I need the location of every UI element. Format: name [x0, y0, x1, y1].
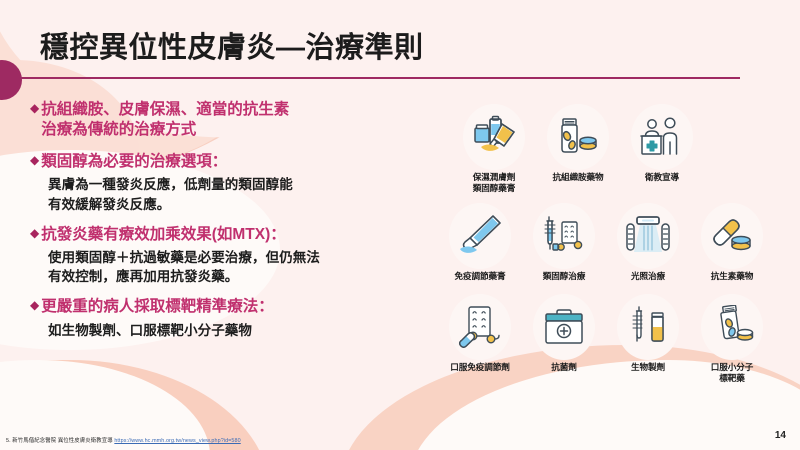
- steroid-syringe-blister-icon: [533, 203, 595, 269]
- antihistamine-pill-bottle-icon: [547, 104, 609, 170]
- antibiotic-capsule-icon: [701, 203, 763, 269]
- diamond-bullet-icon: ◆: [30, 100, 39, 117]
- phototherapy-booth-icon: [617, 203, 679, 269]
- icon-label: 口服小分子 標靶藥: [711, 362, 753, 383]
- icon-cell: 生物製劑: [606, 294, 690, 383]
- icon-row: 口服免疫調節劑 抗菌劑: [438, 294, 791, 383]
- bullet-heading-row: ◆ 更嚴重的病人採取標靶精準療法：: [30, 297, 430, 317]
- icon-cell: 口服小分子 標靶藥: [690, 294, 774, 383]
- icon-label: 衛教宣導: [645, 172, 679, 183]
- bullet-heading-row: ◆ 類固醇為必要的治療選項：: [30, 152, 430, 172]
- bullet-block: ◆ 更嚴重的病人採取標靶精準療法： 如生物製劑、口服標靶小分子藥物: [30, 297, 430, 340]
- diamond-bullet-icon: ◆: [30, 152, 39, 169]
- icon-cell: 光照治療: [606, 203, 690, 282]
- icon-cell: 抗組織胺藥物: [536, 104, 620, 193]
- icon-label: 抗組織胺藥物: [553, 172, 604, 183]
- page-title: 穩控異位性皮膚炎—治療準則: [40, 24, 424, 66]
- icon-cell: 類固醇治療: [522, 203, 606, 282]
- bullet-block: ◆ 抗發炎藥有療效加乘效果(如MTX)： 使用類固醇＋抗過敏藥是必要治療，但仍無…: [30, 225, 430, 287]
- immunomodulator-ointment-tube-icon: [449, 203, 511, 269]
- antibacterial-first-aid-kit-icon: [533, 294, 595, 360]
- bullet-heading-text: 抗發炎藥有療效加乘效果(如MTX)：: [41, 225, 286, 245]
- slide-canvas: 穩控異位性皮膚炎—治療準則 ◆ 抗組織胺、皮膚保濕、適當的抗生素 治療為傳統的治…: [0, 0, 800, 450]
- bullet-heading-row: ◆ 抗發炎藥有療效加乘效果(如MTX)：: [30, 225, 430, 245]
- icon-label: 類固醇治療: [543, 271, 585, 282]
- icon-label: 保濕潤膚劑 類固醇藥膏: [473, 172, 515, 193]
- icon-row: 保濕潤膚劑 類固醇藥膏: [452, 104, 791, 193]
- icon-label: 抗生素藥物: [711, 271, 753, 282]
- bullet-heading-row: ◆ 抗組織胺、皮膚保濕、適當的抗生素 治療為傳統的治療方式: [30, 100, 430, 141]
- page-number: 14: [775, 430, 786, 441]
- icon-label: 免疫調節藥膏: [455, 271, 506, 282]
- icon-cell: 抗生素藥物: [690, 203, 774, 282]
- bullet-heading-text: 抗組織胺、皮膚保濕、適當的抗生素 治療為傳統的治療方式: [41, 100, 289, 141]
- icon-label: 抗菌劑: [551, 362, 576, 373]
- icon-label: 口服免疫調節劑: [450, 362, 509, 373]
- icon-cell: 衛教宣導: [620, 104, 704, 193]
- diamond-bullet-icon: ◆: [30, 297, 39, 314]
- bullet-block: ◆ 類固醇為必要的治療選項： 異膚為一種發炎反應，低劑量的類固醇能 有效緩解發炎…: [30, 152, 430, 214]
- moisturizer-steroid-ointment-icon: [463, 104, 525, 170]
- treatment-icon-grid: 保濕潤膚劑 類固醇藥膏: [446, 104, 791, 383]
- biologic-syringe-vial-icon: [617, 294, 679, 360]
- bullet-heading-text: 類固醇為必要的治療選項：: [41, 152, 227, 172]
- bullet-block: ◆ 抗組織胺、皮膚保濕、適當的抗生素 治療為傳統的治療方式: [30, 100, 430, 141]
- health-education-counter-icon: [631, 104, 693, 170]
- bullet-body-text: 使用類固醇＋抗過敏藥是必要治療，但仍無法 有效控制，應再加用抗發炎藥。: [48, 248, 430, 286]
- bullet-body-text: 如生物製劑、口服標靶小分子藥物: [48, 321, 430, 340]
- icon-cell: 抗菌劑: [522, 294, 606, 383]
- footnote-prefix: 5. 新竹馬偕紀念醫院 異位性皮膚炎衛教宣導: [6, 438, 114, 444]
- icon-cell: 免疫調節藥膏: [438, 203, 522, 282]
- icon-cell: 口服免疫調節劑: [438, 294, 522, 383]
- oral-immunomodulator-blister-icon: [449, 294, 511, 360]
- title-divider-rule: [18, 77, 740, 79]
- icon-cell: 保濕潤膚劑 類固醇藥膏: [452, 104, 536, 193]
- icon-label: 光照治療: [631, 271, 665, 282]
- bullet-body-text: 異膚為一種發炎反應，低劑量的類固醇能 有效緩解發炎反應。: [48, 175, 430, 213]
- source-footnote: 5. 新竹馬偕紀念醫院 異位性皮膚炎衛教宣導 https://www.hc.mm…: [6, 436, 241, 444]
- icon-label: 生物製劑: [631, 362, 665, 373]
- footnote-source-link[interactable]: https://www.hc.mmh.org.tw/news_view.php?…: [114, 438, 240, 444]
- icon-row: 免疫調節藥膏: [438, 203, 791, 282]
- accent-circle-marker: [0, 60, 22, 100]
- diamond-bullet-icon: ◆: [30, 225, 39, 242]
- bullet-heading-text: 更嚴重的病人採取標靶精準療法：: [41, 297, 274, 317]
- oral-small-molecule-bottle-icon: [701, 294, 763, 360]
- bullet-list: ◆ 抗組織胺、皮膚保濕、適當的抗生素 治療為傳統的治療方式 ◆ 類固醇為必要的治…: [30, 100, 430, 351]
